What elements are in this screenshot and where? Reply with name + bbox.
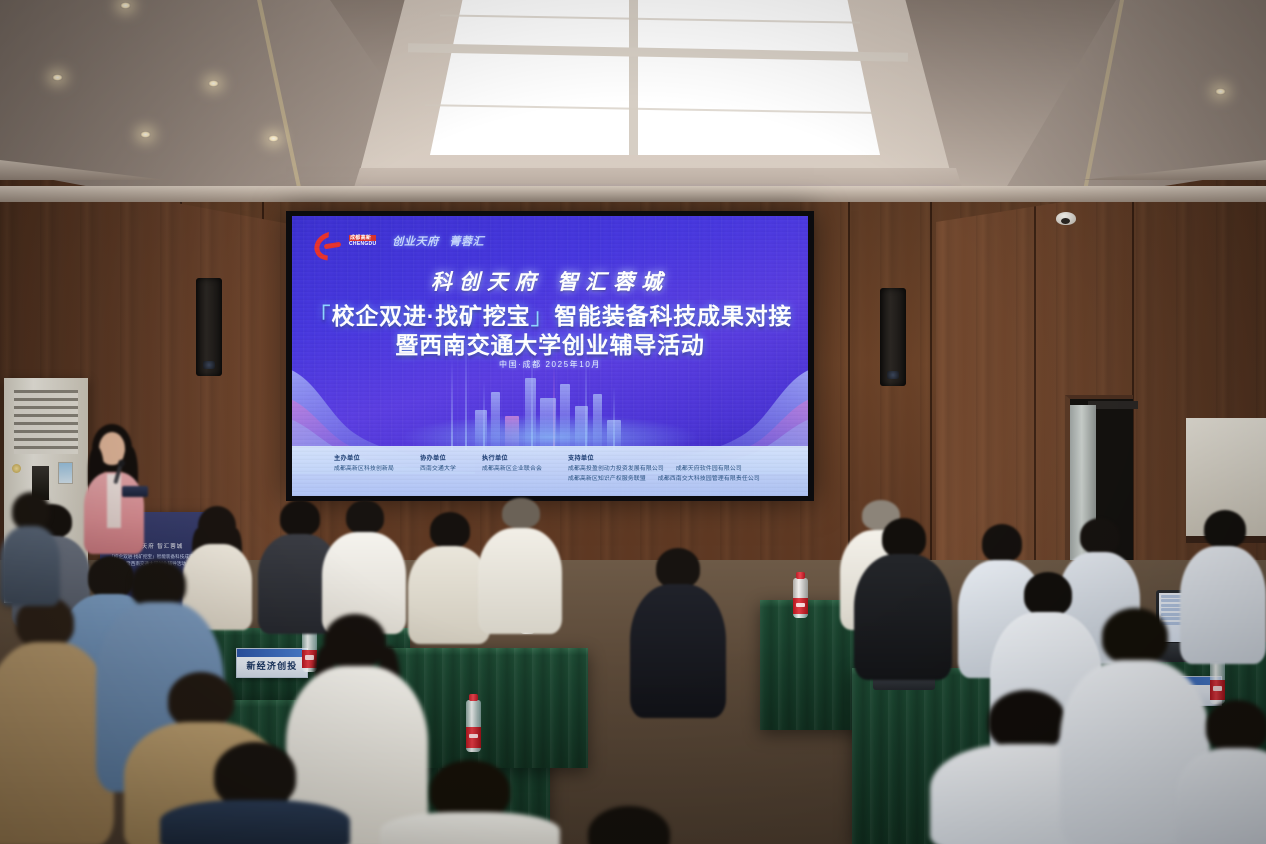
ceiling-spotlight [268,135,279,142]
torso [380,812,560,844]
foreground-person [380,760,560,844]
crown-molding [0,186,1266,202]
torso [478,528,562,634]
ceiling-spotlight [140,131,151,138]
torso [0,526,60,606]
ac-label [58,462,73,484]
hair [1206,700,1266,752]
hair [214,742,296,808]
foreground-person [160,742,350,844]
dome-camera-icon [1056,212,1076,225]
hair [502,498,540,528]
audience-member [630,548,726,716]
hair [12,492,50,530]
hair [1204,510,1246,548]
skylight-mullion-vertical [629,0,638,155]
skylight-panel-group [430,0,880,155]
ceiling-spotlight [120,2,131,9]
wall-speaker-left [196,278,222,376]
led-screen: 成都高新 CHENGDU 创业天府 菁蓉汇 科创天府 智汇蓉城 「校企双进·找矿… [292,216,808,496]
ac-power-indicator [12,464,21,473]
bottle-cap [796,572,805,579]
water-bottle [793,578,808,618]
hair [130,560,186,608]
ceiling-spotlight [1215,88,1226,95]
foreground-person [548,806,708,844]
hair [588,806,670,844]
screen-scanlines [292,216,808,496]
presenter-tablet [122,486,148,497]
hair [280,500,320,536]
audience-member [854,518,952,678]
ceiling-spotlight [208,80,219,87]
hair [346,500,384,534]
hair [982,524,1022,562]
hair [656,548,700,588]
torso [630,584,726,718]
water-bottle [466,700,481,752]
torso [854,554,952,680]
foreground-person [1176,700,1266,844]
hair [430,760,510,820]
led-screen-frame: 成都高新 CHENGDU 创业天府 菁蓉汇 科创天府 智汇蓉城 「校企双进·找矿… [286,211,814,501]
ceiling [0,0,1266,205]
bottle-label [1210,680,1225,700]
foreground-person [0,492,60,602]
hair [988,690,1066,750]
bottle-label [466,727,481,748]
ceiling-spotlight [52,74,63,81]
hair [1102,608,1168,664]
wall-speaker-right [880,288,906,386]
torso [1176,748,1266,844]
audience-member [322,500,406,630]
bottle-cap [469,694,478,701]
audience-member [478,498,562,632]
torso [160,800,350,844]
conference-room-photo: 成都高新 CHENGDU 创业天府 菁蓉汇 科创天府 智汇蓉城 「校企双进·找矿… [0,0,1266,844]
hair [430,512,470,548]
hair [168,672,234,728]
hair [882,518,926,558]
bottle-label [793,598,808,614]
hair [1080,518,1120,554]
ac-vent-grille [14,390,78,454]
